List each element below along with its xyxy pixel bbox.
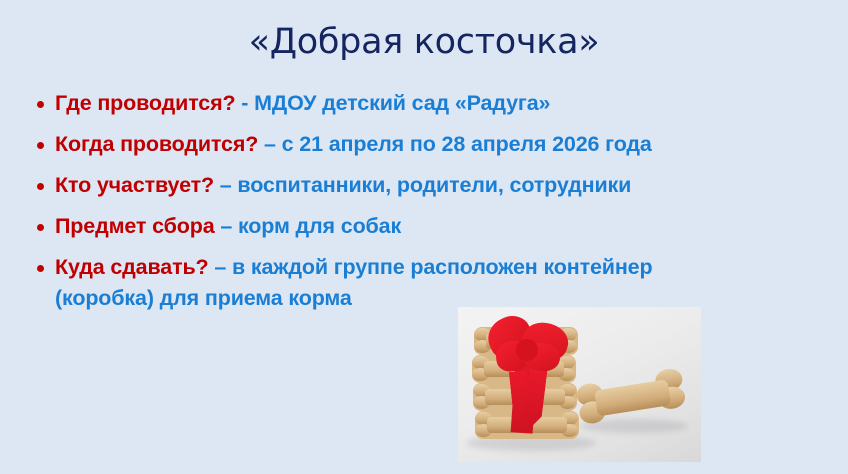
- bullet-dot-icon: [37, 183, 44, 190]
- list-item: Предмет сбора – корм для собак: [33, 216, 823, 237]
- bullet-answer: – воспитанники, родители, сотрудники: [214, 173, 631, 197]
- bullet-dot-icon: [37, 224, 44, 231]
- bullet-question: Когда проводится?: [55, 132, 258, 156]
- bullet-answer: – корм для собак: [215, 214, 402, 238]
- bullet-question: Предмет сбора: [55, 214, 215, 238]
- page-title: «Добрая косточка»: [0, 22, 848, 62]
- bullet-dot-icon: [37, 142, 44, 149]
- bullet-dot-icon: [37, 101, 44, 108]
- slide-canvas: «Добрая косточка» Где проводится? - МДОУ…: [0, 0, 848, 474]
- red-ribbon-bow: [494, 313, 584, 448]
- bullet-question: Кто участвует?: [55, 173, 214, 197]
- bullet-list: Где проводится? - МДОУ детский сад «Раду…: [33, 93, 823, 309]
- list-item: Кто участвует? – воспитанники, родители,…: [33, 175, 823, 196]
- bullet-answer: - МДОУ детский сад «Радуга»: [235, 91, 550, 115]
- bullet-answer-line2: (коробка) для приема корма: [55, 288, 823, 309]
- bullet-dot-icon: [37, 265, 44, 272]
- bullet-answer: – в каждой группе расположен контейнер: [209, 255, 653, 279]
- list-item: Где проводится? - МДОУ детский сад «Раду…: [33, 93, 823, 114]
- dog-treat-photo: [458, 307, 701, 462]
- list-item: Когда проводится? – с 21 апреля по 28 ап…: [33, 134, 823, 155]
- bow-knot: [516, 339, 538, 361]
- bullet-question: Где проводится?: [55, 91, 235, 115]
- list-item: Куда сдавать? – в каждой группе располож…: [33, 257, 823, 309]
- photo-content: [458, 307, 701, 462]
- bullet-question: Куда сдавать?: [55, 255, 209, 279]
- bullet-answer: – с 21 апреля по 28 апреля 2026 года: [258, 132, 652, 156]
